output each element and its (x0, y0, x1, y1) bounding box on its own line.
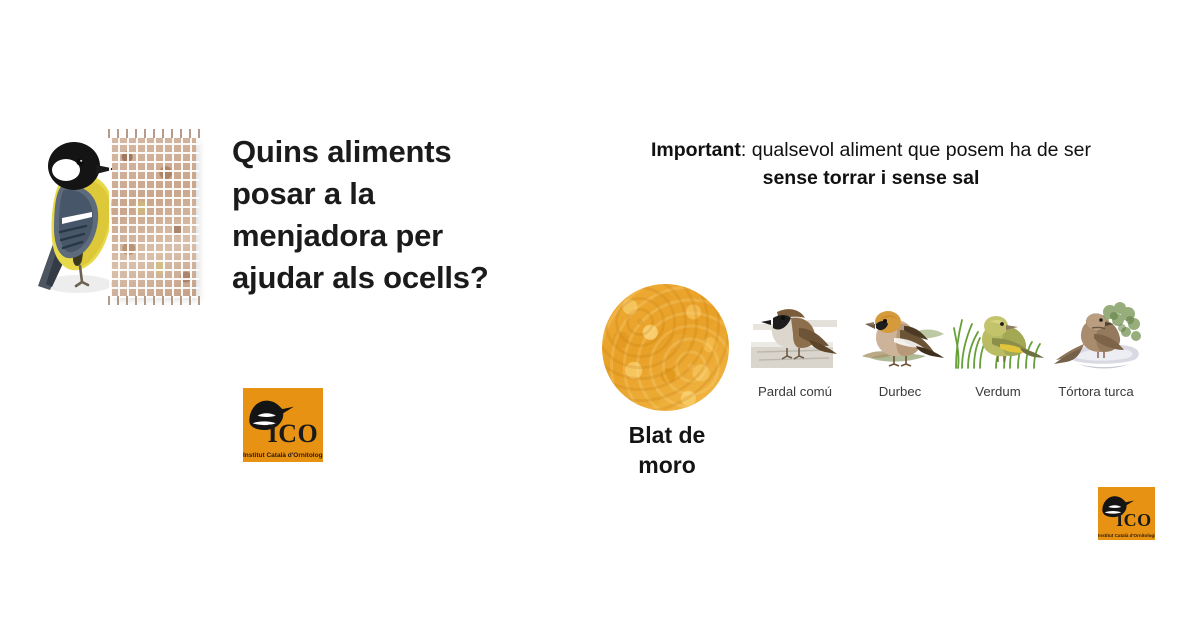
left-panel: Quins aliments posar a la menjadora per … (0, 0, 560, 627)
important-note: Important: qualsevol aliment que posem h… (640, 136, 1102, 193)
ico-wordmark: ICO (1116, 511, 1152, 529)
corn-kernels-photo (602, 284, 729, 411)
bird-item-verdum: Verdum (950, 294, 1046, 400)
main-question-heading: Quins aliments posar a la menjadora per … (232, 131, 532, 300)
important-note-body: qualsevol aliment que posem ha de ser (746, 139, 1091, 161)
greenfinch-photo (950, 294, 1046, 372)
bird-item-pardal-comu: Pardal comú (747, 294, 843, 400)
important-note-emphasis: sense torrar i sense sal (763, 167, 980, 189)
important-note-lead: Important (651, 139, 741, 161)
bird-label: Tórtora turca (1048, 384, 1144, 400)
ico-logo-right: ICO Institut Català d'Ornitologia (1098, 487, 1155, 540)
ico-wordmark: ICO (268, 421, 319, 447)
corn-caption: Blat de moro (597, 421, 737, 481)
ico-subtitle: Institut Català d'Ornitologia (1098, 534, 1155, 539)
bird-label: Durbec (852, 384, 948, 400)
bird-item-tortora-turca: Tórtora turca (1048, 294, 1144, 400)
ico-logo-left: ICO Institut Català d'Ornitologia (243, 388, 323, 462)
collared-dove-photo (1048, 294, 1144, 372)
house-sparrow-photo (747, 294, 843, 372)
suet-mesh-feeder (112, 138, 196, 296)
bird-label: Pardal comú (747, 384, 843, 400)
great-tit-and-feeder-figure (28, 128, 213, 308)
bird-item-durbec: Durbec (852, 294, 948, 400)
slide-canvas: Quins aliments posar a la menjadora per … (0, 0, 1200, 627)
ico-subtitle: Institut Català d'Ornitologia (243, 453, 323, 460)
hawfinch-photo (852, 294, 948, 372)
bird-label: Verdum (950, 384, 1046, 400)
